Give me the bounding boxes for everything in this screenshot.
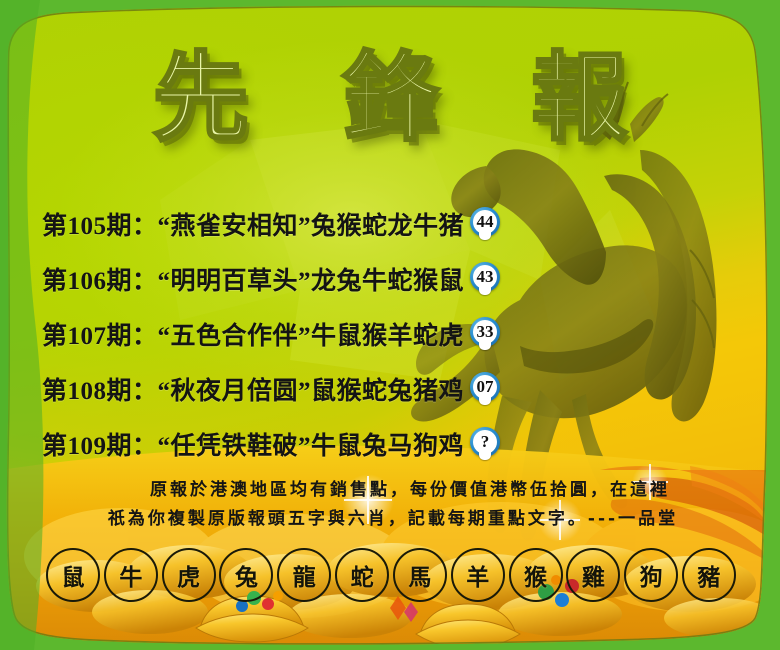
zodiac-badge-goat[interactable]: 羊 xyxy=(451,548,505,602)
ball-inner: 33 xyxy=(473,320,497,344)
masthead: 先 鋒 報 xyxy=(0,48,780,149)
zodiac-badge-rat[interactable]: 鼠 xyxy=(46,548,100,602)
ball-inner: 44 xyxy=(473,210,497,234)
issue-number: 第106期： xyxy=(42,268,158,295)
ball-inner: 43 xyxy=(473,265,497,289)
issue-phrase: “明明百草头” xyxy=(158,268,312,295)
zodiac-badge-snake[interactable]: 蛇 xyxy=(335,548,389,602)
poster-root: 先 鋒 報 第105期：“燕雀安相知”兔猴蛇龙牛猪 44 第106期：“明明百草… xyxy=(0,0,780,650)
zodiac-badge-monkey[interactable]: 猴 xyxy=(509,548,563,602)
issue-number: 第105期： xyxy=(42,213,158,240)
zodiac-badge-pig[interactable]: 豬 xyxy=(682,548,736,602)
issue-line: 第108期：“秋夜月倍圆”鼠猴蛇兔猪鸡 xyxy=(42,371,464,407)
issue-line: 第106期：“明明百草头”龙兔牛蛇猴鼠 xyxy=(42,261,464,297)
issue-phrase: “任凭铁鞋破” xyxy=(158,433,312,460)
issue-line: 第105期：“燕雀安相知”兔猴蛇龙牛猪 xyxy=(42,206,464,242)
footer-line-1: 原報於港澳地區均有銷售點，每份價值港幣伍拾圓，在這裡 xyxy=(0,476,780,505)
poster-content: 先 鋒 報 第105期：“燕雀安相知”兔猴蛇龙牛猪 44 第106期：“明明百草… xyxy=(0,0,780,650)
zodiac-badge-rooster[interactable]: 雞 xyxy=(566,548,620,602)
lottery-ball: 33 xyxy=(470,317,500,351)
issue-line: 第109期：“任凭铁鞋破”牛鼠兔马狗鸡 xyxy=(42,426,464,462)
issue-number: 第109期： xyxy=(42,433,158,460)
zodiac-badge-tiger[interactable]: 虎 xyxy=(162,548,216,602)
lottery-ball: 44 xyxy=(470,207,500,241)
lottery-ball-unknown: ? xyxy=(470,427,500,461)
zodiac-badge-dog[interactable]: 狗 xyxy=(624,548,678,602)
issue-phrase: “燕雀安相知” xyxy=(158,213,312,240)
issue-line: 第107期：“五色合作伴”牛鼠猴羊蛇虎 xyxy=(42,316,464,352)
ball-number: 44 xyxy=(477,213,494,230)
issue-phrase: “五色合作伴” xyxy=(158,323,312,350)
ball-inner: ? xyxy=(473,430,497,454)
issue-zodiacs: 牛鼠猴羊蛇虎 xyxy=(311,323,464,350)
issue-number: 第108期： xyxy=(42,378,158,405)
issue-zodiacs: 龙兔牛蛇猴鼠 xyxy=(311,268,464,295)
issue-zodiacs: 牛鼠兔马狗鸡 xyxy=(311,433,464,460)
ball-inner: 07 xyxy=(473,375,497,399)
zodiac-badge-rabbit[interactable]: 兔 xyxy=(219,548,273,602)
footer-line-2: 祇為你複製原版報頭五字與六肖，記載每期重點文字。---一品堂 xyxy=(0,505,780,534)
ball-number: 43 xyxy=(477,268,494,285)
ball-number: 07 xyxy=(477,378,494,395)
zodiac-strip: 鼠 牛 虎 兔 龍 蛇 馬 羊 猴 雞 狗 豬 xyxy=(46,548,736,602)
list-item[interactable]: 第108期：“秋夜月倍圆”鼠猴蛇兔猪鸡 07 xyxy=(42,361,742,416)
zodiac-badge-ox[interactable]: 牛 xyxy=(104,548,158,602)
issue-zodiacs: 鼠猴蛇兔猪鸡 xyxy=(311,378,464,405)
page-title: 先 鋒 報 xyxy=(123,48,658,149)
ball-number: 33 xyxy=(477,323,494,340)
issue-phrase: “秋夜月倍圆” xyxy=(158,378,312,405)
issue-list: 第105期：“燕雀安相知”兔猴蛇龙牛猪 44 第106期：“明明百草头”龙兔牛蛇… xyxy=(42,196,742,471)
issue-number: 第107期： xyxy=(42,323,158,350)
issue-zodiacs: 兔猴蛇龙牛猪 xyxy=(311,213,464,240)
lottery-ball: 07 xyxy=(470,372,500,406)
footer-note: 原報於港澳地區均有銷售點，每份價值港幣伍拾圓，在這裡 祇為你複製原版報頭五字與六… xyxy=(0,476,780,534)
zodiac-badge-horse[interactable]: 馬 xyxy=(393,548,447,602)
ball-number: ? xyxy=(481,433,490,450)
list-item[interactable]: 第105期：“燕雀安相知”兔猴蛇龙牛猪 44 xyxy=(42,196,742,251)
lottery-ball: 43 xyxy=(470,262,500,296)
list-item[interactable]: 第106期：“明明百草头”龙兔牛蛇猴鼠 43 xyxy=(42,251,742,306)
list-item[interactable]: 第109期：“任凭铁鞋破”牛鼠兔马狗鸡 ? xyxy=(42,416,742,471)
zodiac-badge-dragon[interactable]: 龍 xyxy=(277,548,331,602)
list-item[interactable]: 第107期：“五色合作伴”牛鼠猴羊蛇虎 33 xyxy=(42,306,742,361)
